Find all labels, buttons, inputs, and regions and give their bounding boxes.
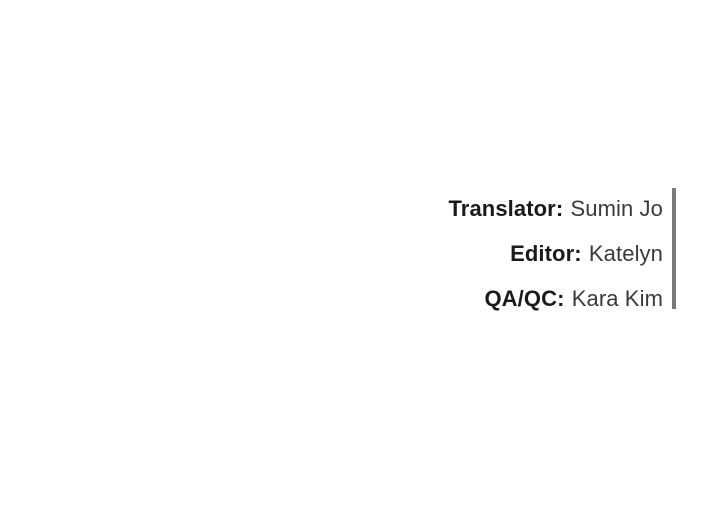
credit-person-name: Katelyn (589, 241, 663, 266)
credit-role-label: QA/QC: (484, 286, 564, 311)
credit-role-label: Editor: (510, 241, 582, 266)
credit-person-name: Kara Kim (572, 286, 663, 311)
credits-line-list: Translator: Sumin Jo Editor: Katelyn QA/… (380, 186, 672, 321)
credit-line-translator: Translator: Sumin Jo (448, 186, 663, 231)
credits-frame: Translator: Sumin Jo Editor: Katelyn QA/… (0, 0, 720, 524)
credits-block: Translator: Sumin Jo Editor: Katelyn QA/… (380, 186, 676, 321)
credit-person-name: Sumin Jo (570, 196, 663, 221)
vertical-rule-divider (672, 188, 676, 309)
credit-line-qaqc: QA/QC: Kara Kim (484, 276, 663, 321)
credit-role-label: Translator: (448, 196, 563, 221)
credit-line-editor: Editor: Katelyn (510, 231, 663, 276)
